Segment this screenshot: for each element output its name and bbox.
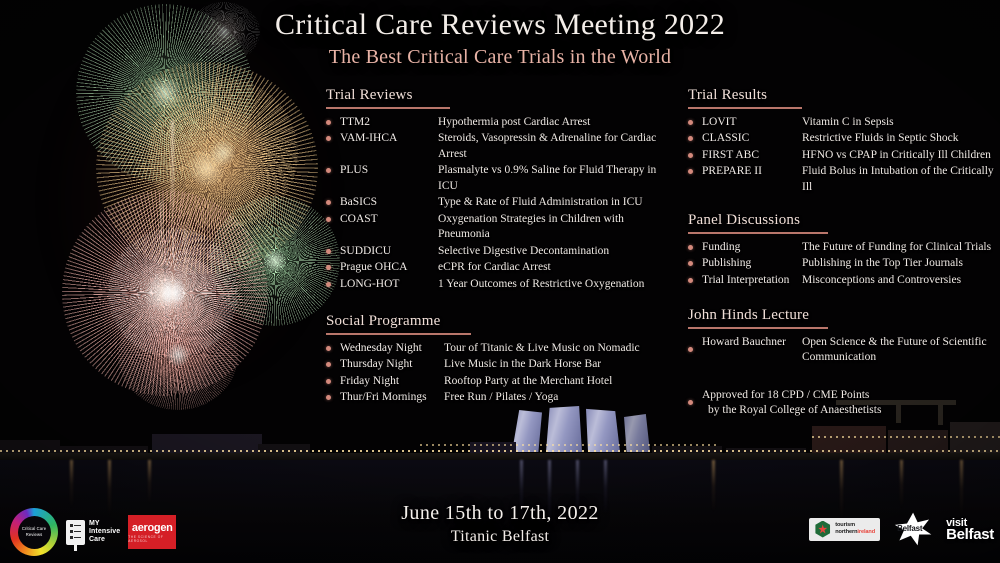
section-heading-trial-results: Trial Results: [688, 87, 767, 106]
logo-text-line-1: MY: [89, 520, 120, 528]
my-intensive-care-logo[interactable]: MY Intensive Care: [66, 520, 120, 545]
list-item: VAM-IHCA Steroids, Vasopressin & Adrenal…: [326, 131, 666, 162]
list-item: LOVIT Vitamin C in Sepsis: [688, 115, 996, 131]
logo-text-line-3: Care: [89, 536, 120, 544]
list-item: LONG-HOT 1 Year Outcomes of Restrictive …: [326, 277, 666, 293]
item-desc: Open Science & the Future of Scientific …: [802, 335, 996, 366]
item-desc: Live Music in the Dark Horse Bar: [444, 357, 601, 373]
item-desc: Selective Digestive Decontamination: [438, 244, 609, 260]
item-desc: Misconceptions and Controversies: [802, 273, 961, 289]
heading-underline: [688, 107, 802, 109]
item-desc: The Future of Funding for Clinical Trial…: [802, 240, 991, 256]
bullet-icon: [326, 168, 331, 173]
accreditation-note: Approved for 18 CPD / CME Points by the …: [688, 388, 996, 419]
logo-tagline: THE SCIENCE OF AEROSOL: [128, 535, 176, 543]
list-item: Thur/Fri Mornings Free Run / Pilates / Y…: [326, 390, 666, 406]
item-label: VAM-IHCA: [340, 131, 438, 147]
logo-text: tourism northernireland: [835, 522, 875, 536]
item-desc: Free Run / Pilates / Yoga: [444, 390, 558, 406]
bullet-icon: [326, 200, 331, 205]
list-item: BaSICS Type & Rate of Fluid Administrati…: [326, 195, 666, 211]
bullet-icon: [688, 136, 693, 141]
item-desc: 1 Year Outcomes of Restrictive Oxygenati…: [438, 277, 644, 293]
item-label: Publishing: [702, 256, 802, 272]
critical-care-reviews-logo[interactable]: Critical Care Reviews: [10, 508, 58, 556]
bullet-icon: [326, 120, 331, 125]
item-desc: Vitamin C in Sepsis: [802, 115, 894, 131]
list-item: TTM2 Hypothermia post Cardiac Arrest: [326, 115, 666, 131]
list-item: PLUS Plasmalyte vs 0.9% Saline for Fluid…: [326, 163, 666, 194]
list-item: SUDDICU Selective Digestive Decontaminat…: [326, 244, 666, 260]
item-label: COAST: [340, 212, 438, 228]
accreditation-line-1: Approved for 18 CPD / CME Points: [702, 388, 881, 404]
section-trial-results: Trial Results LOVIT Vitamin C in Sepsis …: [688, 86, 996, 195]
item-label: CLASSIC: [702, 131, 802, 147]
left-column: Trial Reviews TTM2 Hypothermia post Card…: [326, 86, 666, 420]
bullet-icon: [326, 217, 331, 222]
bullet-icon: [688, 278, 693, 283]
item-label: Funding: [702, 240, 802, 256]
item-desc: Steroids, Vasopressin & Adrenaline for C…: [438, 131, 666, 162]
item-label: PREPARE II: [702, 164, 802, 180]
bullet-icon: [688, 153, 693, 158]
tourism-northern-ireland-logo[interactable]: tourism northernireland: [809, 518, 880, 541]
bullet-icon: [688, 169, 693, 174]
item-label: Thur/Fri Mornings: [340, 390, 444, 406]
bullet-icon: [326, 136, 331, 141]
item-label: Friday Night: [340, 374, 444, 390]
logo-text: MY Intensive Care: [89, 520, 120, 544]
item-desc: eCPR for Cardiac Arrest: [438, 260, 551, 276]
logo-wordmark: Belfast: [897, 524, 922, 533]
sponsor-logos-left: Critical Care Reviews MY Intensive Care …: [10, 508, 176, 556]
item-label: LONG-HOT: [340, 277, 438, 293]
item-label: Trial Interpretation: [702, 273, 802, 289]
bullet-icon: [326, 379, 331, 384]
bullet-icon: [688, 347, 693, 352]
section-heading-john-hinds-lecture: John Hinds Lecture: [688, 307, 809, 326]
logo-text-line-2b: ireland: [857, 529, 875, 535]
item-desc: HFNO vs CPAP in Critically Ill Children: [802, 148, 991, 164]
item-label: Howard Bauchner: [702, 335, 802, 351]
item-label: Prague OHCA: [340, 260, 438, 276]
bullet-icon: [688, 120, 693, 125]
logo-text-line-1: tourism: [835, 522, 875, 529]
item-desc: Plasmalyte vs 0.9% Saline for Fluid Ther…: [438, 163, 666, 194]
item-label: SUDDICU: [340, 244, 438, 260]
document-stem: [74, 545, 77, 551]
bullet-icon: [326, 282, 331, 287]
list-item: FIRST ABC HFNO vs CPAP in Critically Ill…: [688, 148, 996, 164]
poster-content: Critical Care Reviews Meeting 2022 The B…: [0, 0, 1000, 563]
belfast-logo[interactable]: Belfast: [894, 512, 932, 546]
item-desc: Type & Rate of Fluid Administration in I…: [438, 195, 643, 211]
bullet-icon: [326, 362, 331, 367]
list-item: Thursday Night Live Music in the Dark Ho…: [326, 357, 666, 373]
bullet-icon: [326, 395, 331, 400]
item-label: LOVIT: [702, 115, 802, 131]
item-label: PLUS: [340, 163, 438, 179]
bullet-icon: [688, 245, 693, 250]
section-heading-panel-discussions: Panel Discussions: [688, 212, 800, 231]
logo-text-line-2a: northern: [835, 529, 857, 535]
bullet-icon: [326, 249, 331, 254]
visit-belfast-logo[interactable]: visit Belfast: [946, 517, 994, 541]
item-desc: Tour of Titanic & Live Music on Nomadic: [444, 341, 640, 357]
heading-underline: [688, 232, 828, 234]
item-desc: Hypothermia post Cardiac Arrest: [438, 115, 590, 131]
logo-wordmark: aerogen: [132, 522, 173, 534]
bullet-icon: [688, 261, 693, 266]
section-trial-reviews: Trial Reviews TTM2 Hypothermia post Card…: [326, 86, 666, 292]
section-panel-discussions: Panel Discussions Funding The Future of …: [688, 211, 996, 288]
logo-inner: Critical Care Reviews: [18, 516, 51, 549]
heading-underline: [326, 333, 471, 335]
bullet-icon: [326, 346, 331, 351]
list-item: Funding The Future of Funding for Clinic…: [688, 240, 996, 256]
item-desc: Publishing in the Top Tier Journals: [802, 256, 963, 272]
page-title: Critical Care Reviews Meeting 2022: [0, 8, 1000, 42]
bullet-icon: [688, 400, 693, 405]
heading-underline: [688, 327, 828, 329]
section-heading-trial-reviews: Trial Reviews: [326, 87, 413, 106]
item-desc: Restrictive Fluids in Septic Shock: [802, 131, 959, 147]
item-desc: Fluid Bolus in Intubation of the Critica…: [802, 164, 996, 195]
logo-text-line-2: Reviews: [26, 532, 43, 538]
item-label: Thursday Night: [340, 357, 444, 373]
item-desc: Oxygenation Strategies in Children with …: [438, 212, 666, 243]
item-label: BaSICS: [340, 195, 438, 211]
list-item: Wednesday Night Tour of Titanic & Live M…: [326, 341, 666, 357]
list-item: COAST Oxygenation Strategies in Children…: [326, 212, 666, 243]
document-icon: [66, 520, 85, 545]
heading-underline: [326, 107, 450, 109]
item-label: FIRST ABC: [702, 148, 802, 164]
section-john-hinds-lecture: John Hinds Lecture Howard Bauchner Open …: [688, 306, 996, 366]
right-column: Trial Results LOVIT Vitamin C in Sepsis …: [688, 86, 996, 420]
page-subtitle: The Best Critical Care Trials in the Wor…: [0, 46, 1000, 69]
accreditation-line-2: by the Royal College of Anaesthetists: [702, 403, 881, 419]
list-item: Friday Night Rooftop Party at the Mercha…: [326, 374, 666, 390]
logo-text-line-2: Intensive: [89, 528, 120, 536]
section-social-programme: Social Programme Wednesday Night Tour of…: [326, 312, 666, 406]
list-item: Prague OHCA eCPR for Cardiac Arrest: [326, 260, 666, 276]
item-desc: Rooftop Party at the Merchant Hotel: [444, 374, 612, 390]
item-label: TTM2: [340, 115, 438, 131]
list-item: PREPARE II Fluid Bolus in Intubation of …: [688, 164, 996, 195]
item-label: Wednesday Night: [340, 341, 444, 357]
list-item: Trial Interpretation Misconceptions and …: [688, 273, 996, 289]
aerogen-logo[interactable]: aerogen THE SCIENCE OF AEROSOL: [128, 515, 176, 549]
list-item: CLASSIC Restrictive Fluids in Septic Sho…: [688, 131, 996, 147]
section-heading-social-programme: Social Programme: [326, 313, 440, 332]
logo-text-line-2: Belfast: [946, 529, 994, 541]
shamrock-hex-icon: [814, 521, 831, 538]
list-item: Publishing Publishing in the Top Tier Jo…: [688, 256, 996, 272]
list-item: Howard Bauchner Open Science & the Futur…: [688, 335, 996, 366]
sponsor-logos-right: tourism northernireland Belfast visit Be…: [809, 512, 994, 546]
bullet-icon: [326, 265, 331, 270]
